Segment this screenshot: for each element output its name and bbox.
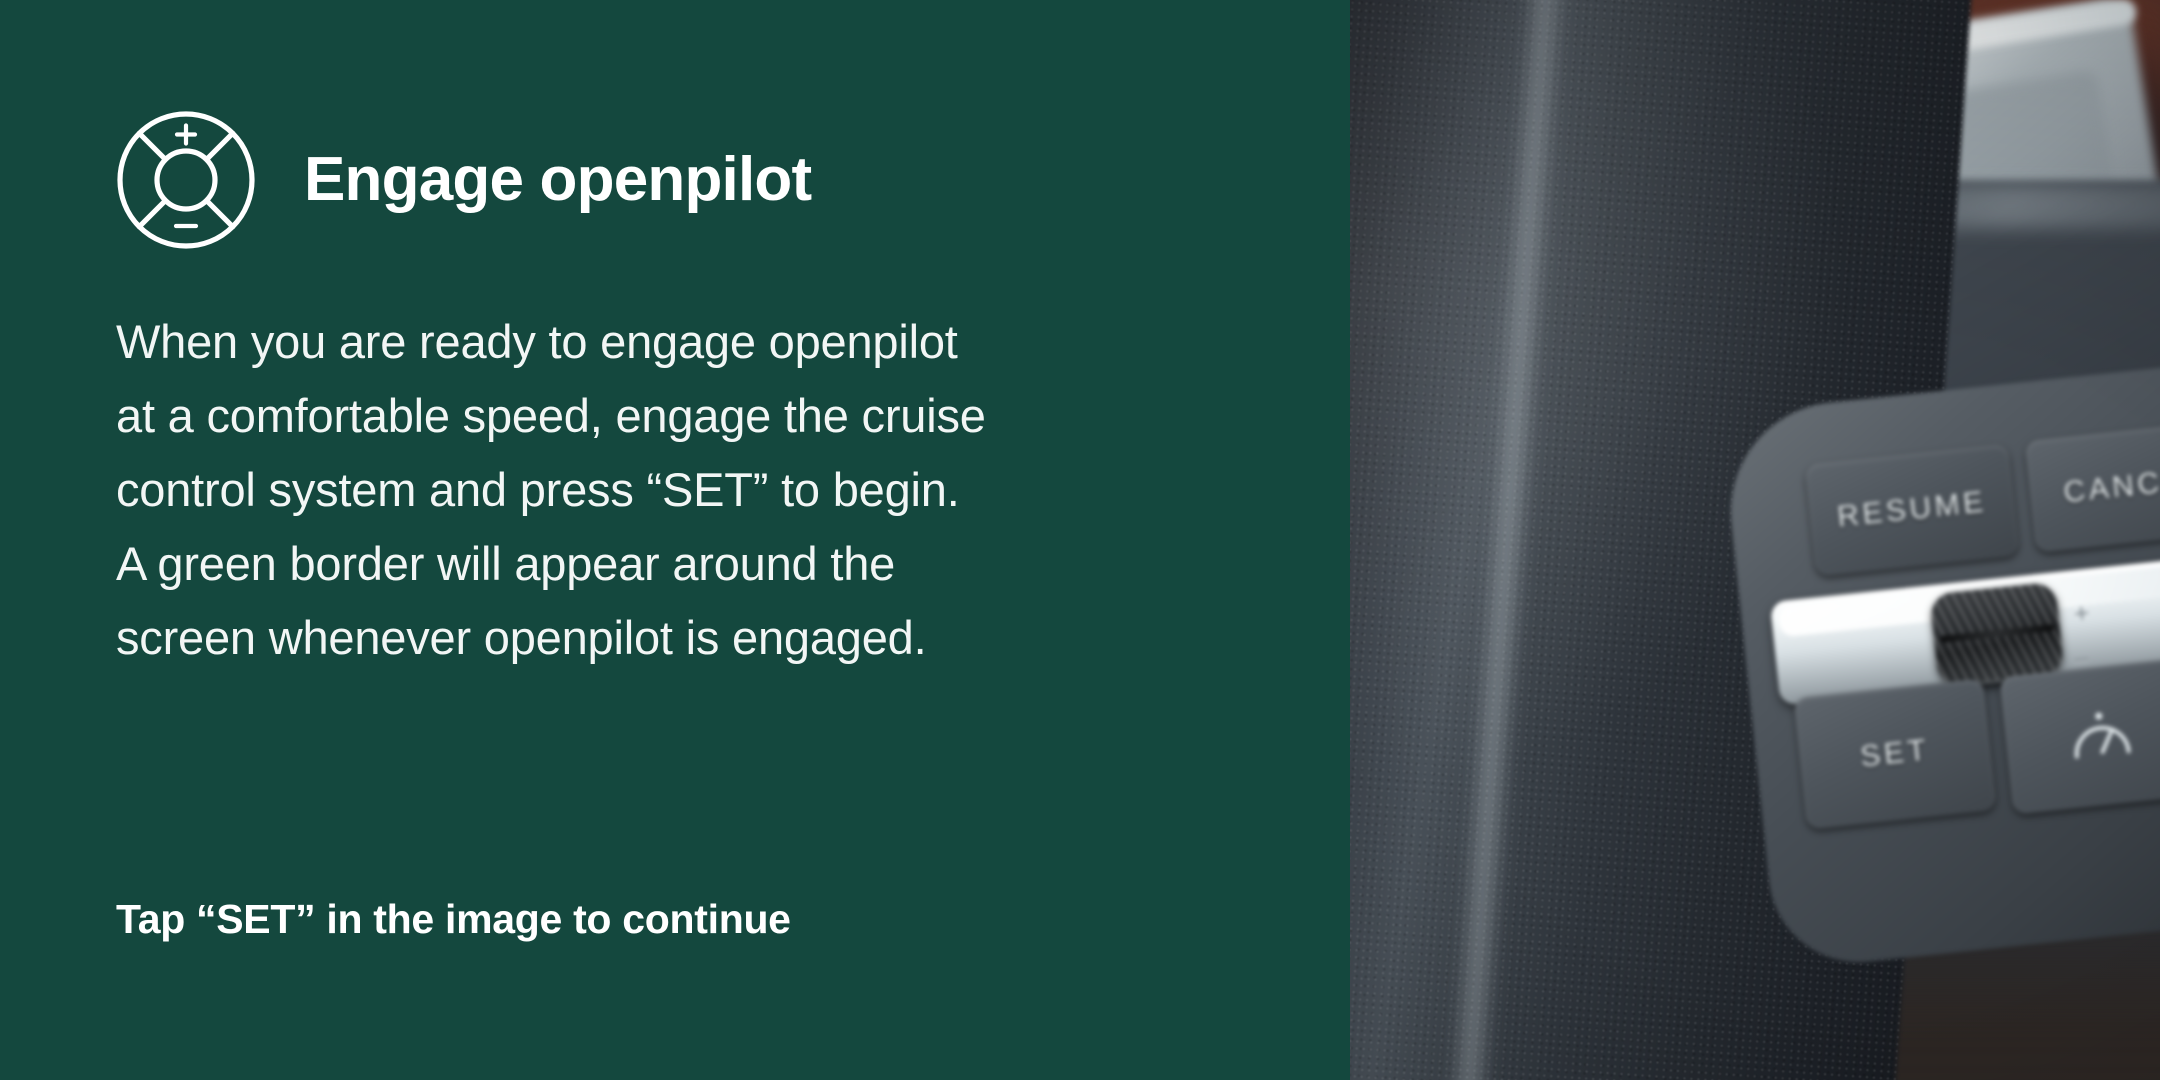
call-to-action-text: Tap “SET” in the image to continue: [116, 896, 791, 943]
knurled-thumbwheel[interactable]: [1930, 582, 2065, 687]
icon-spoke-bottom-left: [139, 201, 165, 227]
page-title: Engage openpilot: [304, 149, 811, 211]
resume-button[interactable]: RESUME: [1805, 444, 2020, 577]
instruction-panel: Engage openpilot When you are ready to e…: [0, 0, 1350, 1080]
cruise-control-button-cluster: RESUME CANCEL + – SET: [1748, 388, 2160, 948]
speed-limit-gauge-icon: [2060, 696, 2141, 777]
rocker-minus-label: –: [2073, 643, 2090, 670]
set-button-label: SET: [1859, 733, 1931, 774]
cruise-control-icon: [116, 110, 256, 250]
instruction-line: screen whenever openpilot is engaged.: [116, 601, 1276, 675]
steering-wheel-photo[interactable]: RESUME CANCEL + – SET: [1350, 0, 2160, 1080]
icon-plus: [177, 126, 195, 144]
rocker-plus-label: +: [2073, 599, 2091, 626]
cancel-button[interactable]: CANCEL: [2025, 419, 2160, 552]
cancel-button-label: CANCEL: [2062, 462, 2160, 511]
icon-spoke-top-left: [139, 133, 165, 159]
instruction-line: control system and press “SET” to begin.: [116, 453, 1276, 527]
instruction-line: When you are ready to engage openpilot: [116, 305, 1276, 379]
instruction-line: A green border will appear around the: [116, 527, 1276, 601]
icon-spoke-bottom-right: [207, 201, 233, 227]
instruction-body: When you are ready to engage openpilot a…: [116, 305, 1276, 675]
icon-spoke-top-right: [207, 133, 233, 159]
resume-button-label: RESUME: [1836, 485, 1989, 534]
onboarding-screen: Engage openpilot When you are ready to e…: [0, 0, 2160, 1080]
set-button[interactable]: SET: [1794, 678, 1997, 829]
panel-header: Engage openpilot: [116, 110, 811, 250]
instruction-line: at a comfortable speed, engage the cruis…: [116, 379, 1276, 453]
